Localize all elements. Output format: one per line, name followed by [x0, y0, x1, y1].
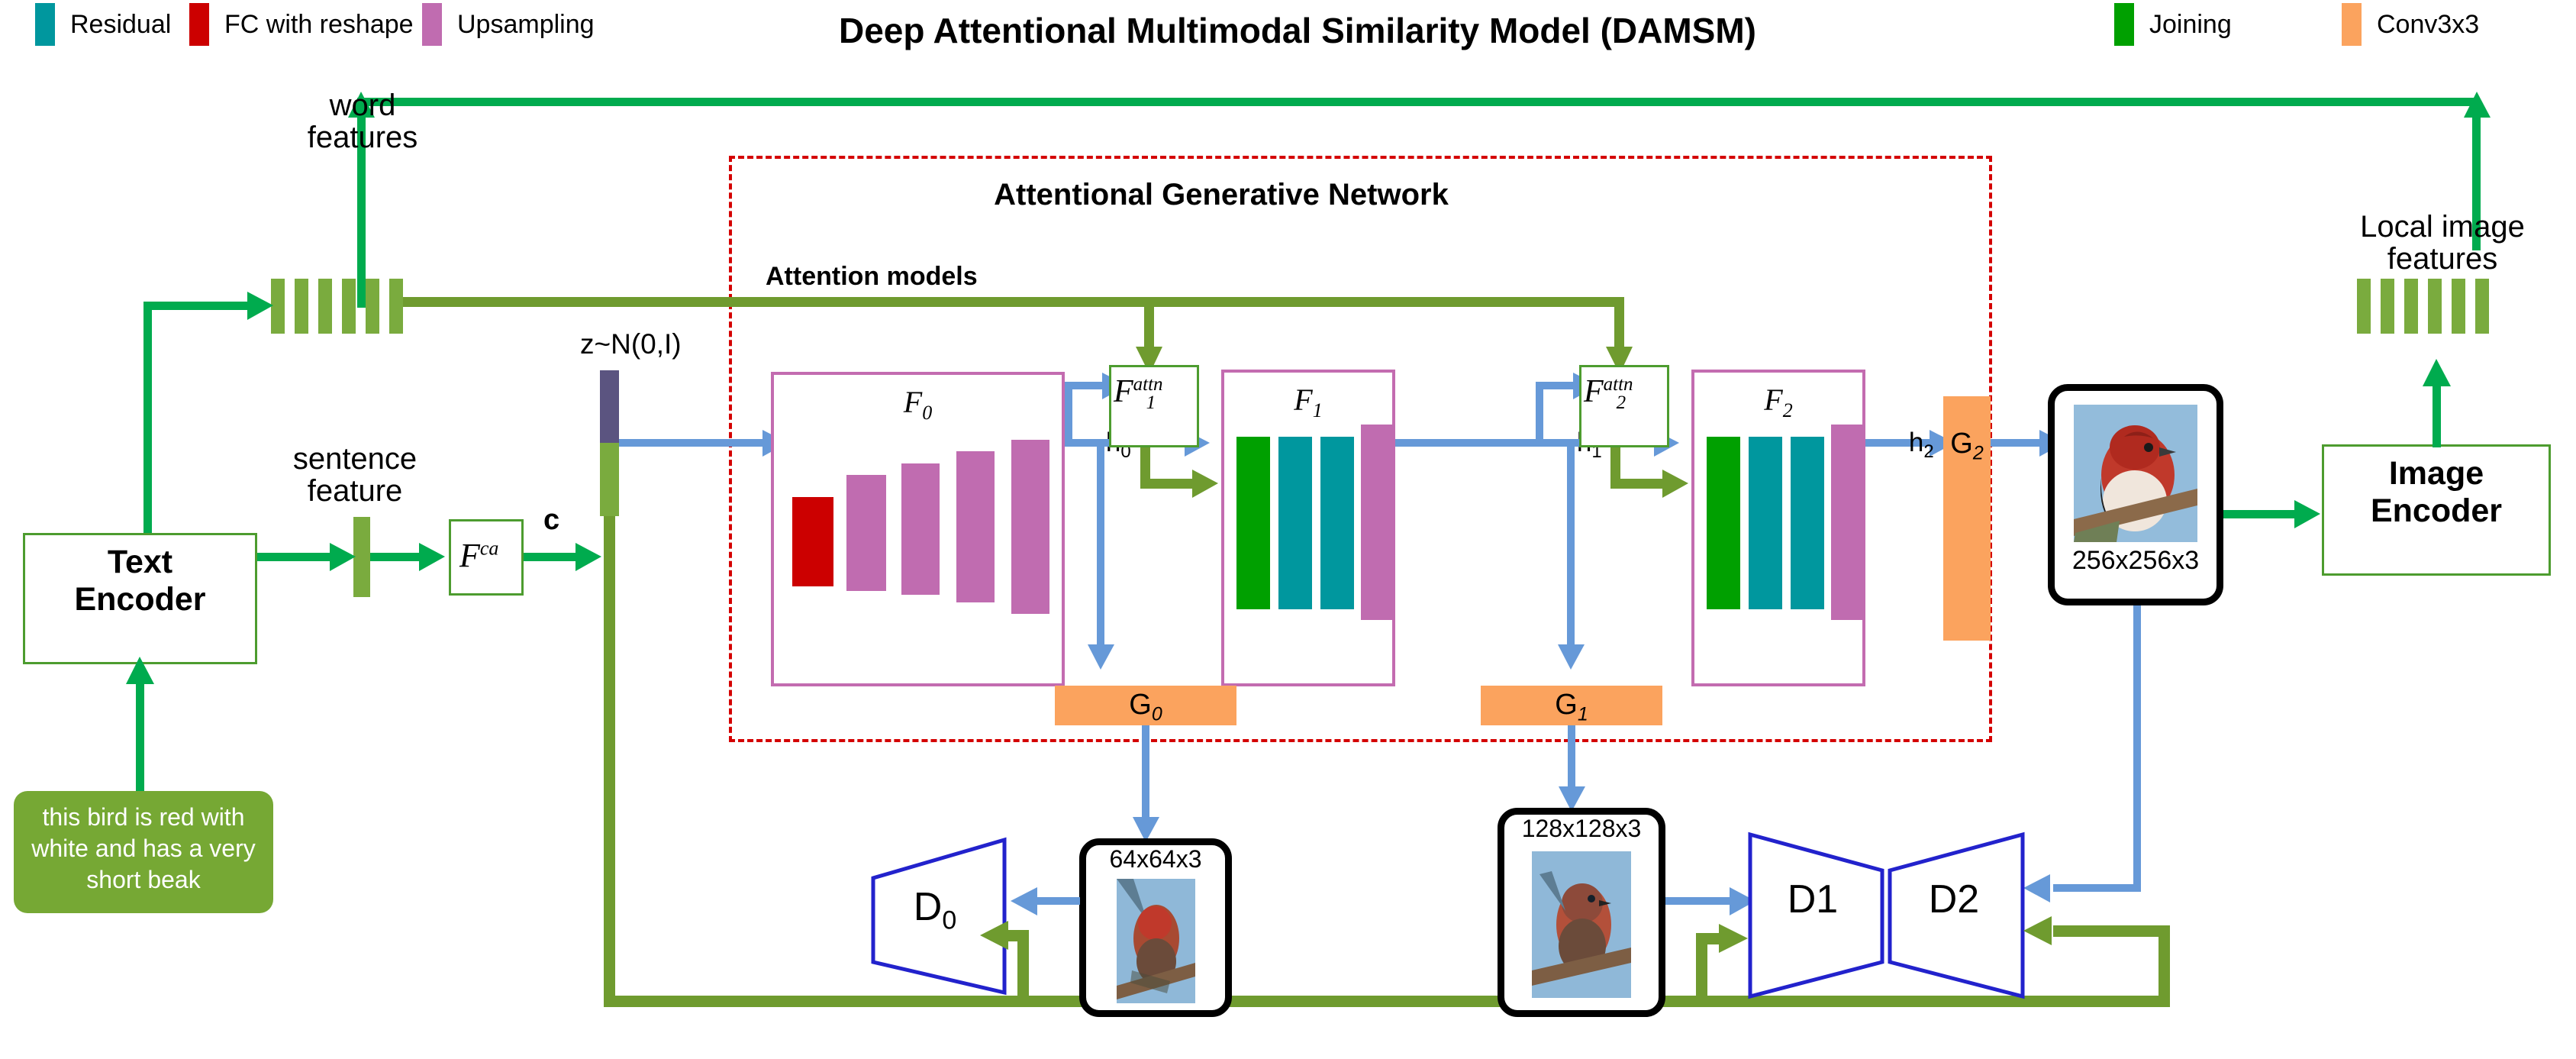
stage-f1-bars	[1221, 370, 1395, 686]
h1-to-g1-arrow-icon	[1557, 641, 1586, 672]
output-image-128-card: 128x128x3	[1498, 808, 1665, 1017]
discriminator-d2-label: D2	[1897, 877, 2011, 922]
encoder-to-local-features-line	[2433, 382, 2441, 447]
image256-to-encoder-arrow-icon	[2291, 499, 2323, 530]
h0-line-up-to-attn1	[1065, 382, 1072, 443]
z-to-f0-line	[619, 439, 767, 447]
attention-model-2-label: Fattn2	[1584, 373, 1626, 414]
bar-upsample-1	[846, 475, 886, 591]
output-image-256-thumbnail	[2074, 405, 2197, 542]
h1-down-to-g1	[1567, 439, 1575, 649]
d0-sub: 0	[942, 906, 956, 935]
caption-box[interactable]: this bird is red with white and has a ve…	[14, 791, 273, 913]
condition-bar	[600, 443, 619, 516]
g0-base: G	[1129, 689, 1152, 721]
sentence-to-fca-arrow-icon	[416, 542, 448, 573]
output-image-64-card: 64x64x3	[1079, 838, 1232, 1017]
g2-base: G	[1950, 428, 1973, 460]
generator-g0-label: G0	[1055, 689, 1236, 726]
attn2-sup: attn	[1604, 374, 1633, 395]
legend-swatch-upsampling	[422, 3, 442, 46]
encoder-to-local-features-arrow-icon	[2422, 359, 2452, 391]
image-encoder-label: Image Encoder	[2322, 455, 2551, 531]
image256-to-encoder-line	[2223, 510, 2300, 518]
damsm-architecture-diagram: Residual FC with reshape Upsampling Join…	[0, 0, 2576, 1059]
encoder-to-sentence-line	[257, 553, 334, 561]
output-image-128-thumbnail	[1532, 851, 1631, 998]
legend-label-conv3x3: Conv3x3	[2377, 10, 2479, 40]
caption-to-encoder-arrow-icon	[125, 657, 156, 689]
attn2-base: F	[1584, 374, 1604, 409]
condition-to-d2-arrow-icon	[2021, 915, 2053, 947]
g2-sub: 2	[1973, 443, 1984, 464]
bar-upsample	[1361, 425, 1394, 620]
condition-to-d0-arrow-icon	[978, 919, 1010, 951]
attn1-sup: attn	[1133, 374, 1163, 395]
condition-to-d2-horizontal	[2053, 925, 2170, 937]
g1-sub: 1	[1578, 704, 1588, 725]
h0-down-to-g0	[1097, 439, 1104, 649]
bar-upsample-3	[956, 451, 995, 602]
word-features-label: word features	[244, 89, 481, 153]
fca-to-concat-line	[524, 553, 579, 561]
attn2-out-horizontal	[1610, 479, 1665, 489]
caption-text: this bird is red with white and has a ve…	[24, 802, 263, 896]
attn2-out-arrow-icon	[1659, 469, 1691, 499]
h1-line-up-to-attn2	[1536, 382, 1543, 443]
bar-residual-2	[1320, 437, 1354, 609]
d1-base: D1	[1788, 877, 1838, 922]
condition-feed-down-line	[604, 516, 615, 1006]
attn1-out-arrow-icon	[1189, 469, 1221, 499]
d0-base: D	[914, 885, 943, 929]
g1-base: G	[1555, 689, 1578, 721]
word-features-arrow-icon	[244, 291, 276, 321]
text-encoder-to-word-features-vertical	[143, 302, 152, 534]
fca-to-concat-arrow-icon	[572, 542, 605, 573]
fca-superscript: ca	[480, 537, 499, 559]
g0-sub: 0	[1152, 704, 1162, 725]
sentence-to-fca-line	[370, 553, 422, 561]
legend-swatch-fc-with-reshape	[189, 3, 209, 46]
image256-to-d2-vertical	[2133, 605, 2141, 892]
image128-to-d1-line	[1665, 897, 1734, 905]
g0-to-image64-line	[1142, 725, 1149, 822]
encoder-to-sentence-arrow-icon	[327, 542, 359, 573]
text-encoder-to-word-features-horizontal	[143, 302, 250, 310]
legend-label-upsampling: Upsampling	[457, 10, 595, 40]
bar-upsample	[1831, 425, 1865, 620]
h2-sub: 2	[1923, 441, 1933, 462]
discriminator-d0-label: D0	[878, 884, 992, 935]
stage-f2-bars	[1691, 370, 1865, 686]
image256-to-d2-horizontal	[2053, 884, 2141, 892]
image64-to-d0-arrow-icon	[1008, 886, 1040, 917]
caption-to-encoder-line	[136, 680, 144, 794]
output-image-256-card: 256x256x3	[2048, 384, 2223, 605]
attn1-base: F	[1114, 374, 1133, 409]
h0-to-g0-arrow-icon	[1087, 641, 1116, 672]
damsm-right-arrow-up-icon	[2463, 92, 2494, 122]
noise-bar	[600, 370, 619, 443]
word-features-to-attention-line	[403, 297, 1624, 307]
attention-models-label: Attention models	[766, 263, 978, 291]
legend-label-residual: Residual	[70, 10, 171, 40]
h2-label: h2	[1879, 401, 1934, 489]
discriminator-d1-label: D1	[1755, 877, 1870, 922]
fca-base: F	[459, 537, 480, 574]
bar-upsample-4	[1011, 440, 1049, 614]
bar-joining	[1236, 437, 1270, 609]
bar-residual-1	[1749, 437, 1782, 609]
bar-fc-reshape	[792, 497, 833, 586]
stage-f0-bars	[771, 372, 1065, 686]
legend-swatch-residual	[35, 3, 55, 46]
local-image-features-label: Local image features	[2320, 211, 2565, 275]
z-noise-label: z~N(0,I)	[580, 330, 682, 360]
condition-to-d2-vertical	[2158, 925, 2170, 1002]
damsm-top-line	[357, 98, 2479, 106]
g1-to-image128-line	[1568, 725, 1575, 791]
bar-upsample-2	[901, 463, 940, 595]
text-encoder-label: Text Encoder	[23, 544, 257, 619]
image64-to-d0-line	[1034, 897, 1080, 905]
attn1-sub: 1	[1146, 392, 1156, 413]
h1-line-horizontal	[1395, 439, 1494, 447]
attn1-out-horizontal	[1140, 479, 1195, 489]
legend-swatch-conv3x3	[2342, 3, 2362, 46]
legend-swatch-joining	[2114, 3, 2134, 46]
generator-g1-label: G1	[1481, 689, 1662, 726]
legend-label-joining: Joining	[2149, 10, 2232, 40]
bar-residual-2	[1791, 437, 1824, 609]
attn2-sub: 2	[1617, 392, 1627, 413]
legend-label-fc-with-reshape: FC with reshape	[224, 10, 414, 40]
attention-model-1-label: Fattn1	[1114, 373, 1156, 414]
generator-g2-label: G2	[1943, 428, 1991, 465]
page-title: Deep Attentional Multimodal Similarity M…	[687, 12, 1908, 49]
output-image-64-thumbnail	[1117, 879, 1195, 1003]
fca-label: Fca	[449, 519, 524, 596]
sentence-feature-label: sentence feature	[252, 443, 458, 507]
d2-base: D2	[1929, 877, 1979, 922]
output-image-256-size-label: 256x256x3	[2055, 547, 2217, 575]
attentional-generative-network-title: Attentional Generative Network	[801, 179, 1641, 211]
output-image-64-size-label: 64x64x3	[1086, 847, 1225, 873]
bar-residual-1	[1278, 437, 1312, 609]
h2-base: h	[1909, 428, 1923, 457]
output-image-128-size-label: 128x128x3	[1504, 816, 1659, 842]
c-label: c	[543, 505, 559, 536]
bar-joining	[1707, 437, 1740, 609]
condition-to-d1-arrow-icon	[1717, 922, 1749, 954]
